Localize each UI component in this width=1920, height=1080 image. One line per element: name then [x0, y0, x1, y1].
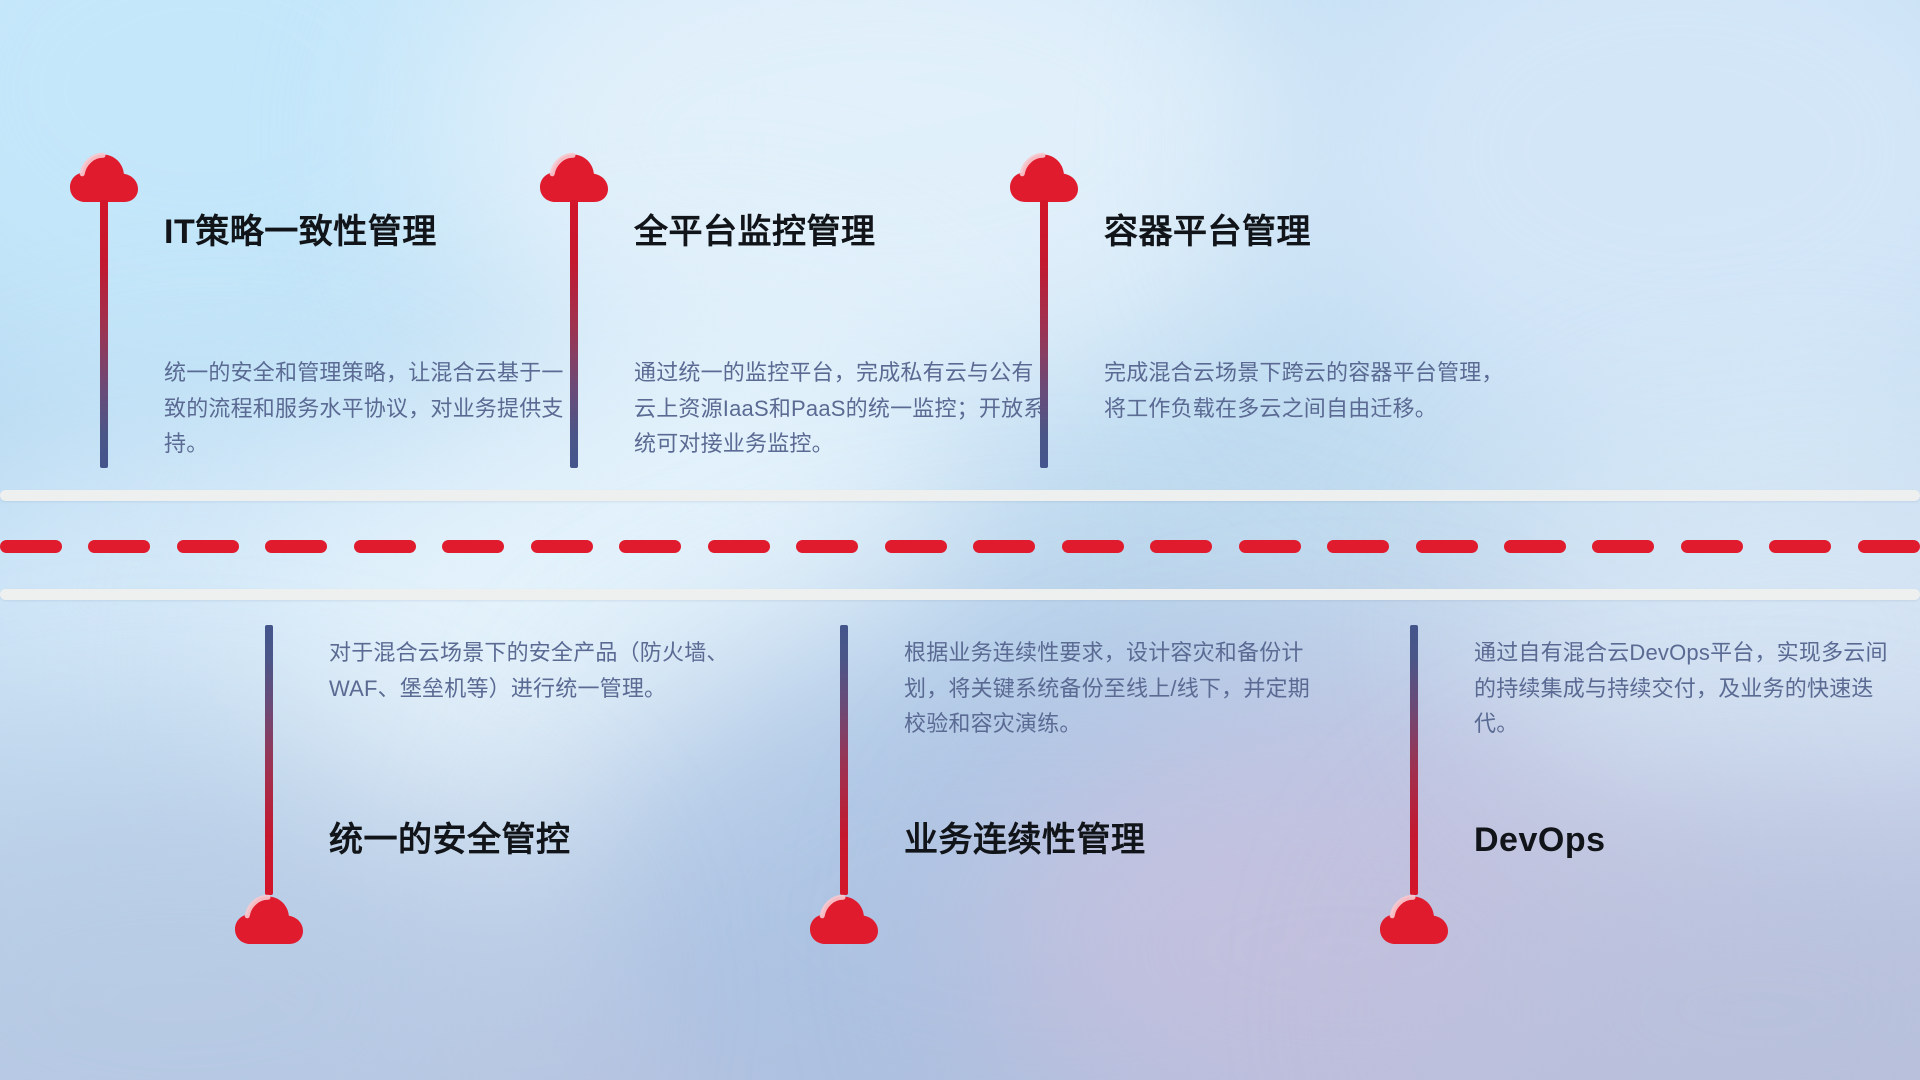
card-title: 容器平台管理 — [1104, 212, 1311, 253]
background-gradient — [0, 0, 1920, 1080]
card-title: DevOps — [1474, 820, 1606, 861]
card-body: 通过统一的监控平台，完成私有云与公有云上资源IaaS和PaaS的统一监控；开放系… — [634, 355, 1054, 462]
card-body: 对于混合云场景下的安全产品（防火墙、WAF、堡垒机等）进行统一管理。 — [329, 635, 749, 706]
card-body: 根据业务连续性要求，设计容灾和备份计划，将关键系统备份至线上/线下，并定期校验和… — [904, 635, 1324, 742]
card-title: 全平台监控管理 — [634, 212, 876, 253]
connector-stem — [840, 625, 848, 895]
card-body-text: 统一的安全和管理策略，让混合云基于一致的流程和服务水平协议，对业务提供支持。 — [164, 355, 584, 462]
card-title: 业务连续性管理 — [904, 820, 1146, 861]
card-body-text: 通过自有混合云DevOps平台，实现多云间的持续集成与持续交付，及业务的快速迭代… — [1474, 635, 1894, 742]
connector-stem — [570, 200, 578, 468]
card-title: 统一的安全管控 — [329, 820, 571, 861]
connector-stem — [1040, 200, 1048, 468]
card-body-text: 完成混合云场景下跨云的容器平台管理，将工作负载在多云之间自由迁移。 — [1104, 355, 1524, 426]
card-body-text: 通过统一的监控平台，完成私有云与公有云上资源IaaS和PaaS的统一监控；开放系… — [634, 355, 1054, 462]
connector-stem — [265, 625, 273, 895]
card-body-text: 根据业务连续性要求，设计容灾和备份计划，将关键系统备份至线上/线下，并定期校验和… — [904, 635, 1324, 742]
card-title: IT策略一致性管理 — [164, 212, 437, 253]
connector-stem — [100, 200, 108, 468]
card-body: 完成混合云场景下跨云的容器平台管理，将工作负载在多云之间自由迁移。 — [1104, 355, 1524, 426]
card-body: 通过自有混合云DevOps平台，实现多云间的持续集成与持续交付，及业务的快速迭代… — [1474, 635, 1894, 742]
card-body: 统一的安全和管理策略，让混合云基于一致的流程和服务水平协议，对业务提供支持。 — [164, 355, 584, 462]
card-body-text: 对于混合云场景下的安全产品（防火墙、WAF、堡垒机等）进行统一管理。 — [329, 635, 749, 706]
connector-stem — [1410, 625, 1418, 895]
infographic-canvas: IT策略一致性管理 统一的安全和管理策略，让混合云基于一致的流程和服务水平协议，… — [0, 0, 1920, 1080]
